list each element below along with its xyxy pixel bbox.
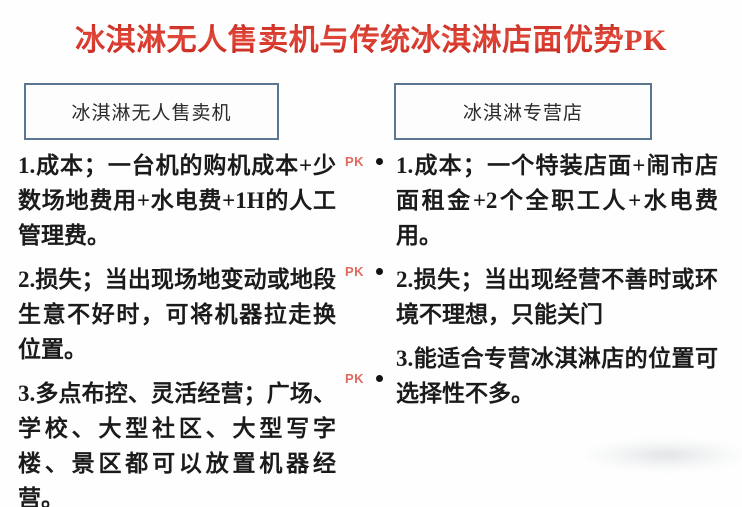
right-item-2: 2.损失；当出现经营不善时或环境不理想，只能关门	[396, 262, 718, 332]
left-column: 1.成本；一台机的购机成本+少数场地费用+水电费+1H的人工管理费。 2.损失；…	[18, 148, 336, 507]
pk-marker-3: PK	[345, 372, 364, 385]
left-item-2: 2.损失；当出现场地变动或地段生意不好时，可将机器拉走换位置。	[18, 262, 336, 367]
bullet-icon-3	[376, 375, 383, 382]
slide-canvas: 冰淇淋无人售卖机与传统冰淇淋店面优势PK 冰淇淋无人售卖机 冰淇淋专营店 1.成…	[0, 0, 742, 507]
right-column: 1.成本；一个特装店面+闹市店面租金+2个全职工人+水电费用。 2.损失；当出现…	[396, 148, 726, 420]
pk-marker-1: PK	[345, 155, 364, 168]
bullet-icon-2	[376, 268, 383, 275]
page-title: 冰淇淋无人售卖机与传统冰淇淋店面优势PK	[0, 22, 742, 60]
pk-marker-2: PK	[345, 265, 364, 278]
bullet-icon-1	[376, 158, 383, 165]
left-item-1: 1.成本；一台机的购机成本+少数场地费用+水电费+1H的人工管理费。	[18, 148, 336, 253]
background-smudge	[552, 425, 742, 485]
header-box-right: 冰淇淋专营店	[394, 83, 652, 140]
header-box-left-label: 冰淇淋无人售卖机	[71, 98, 231, 125]
right-item-3: 3.能适合专营冰淇淋店的位置可选择性不多。	[396, 341, 718, 411]
header-box-left: 冰淇淋无人售卖机	[24, 83, 279, 140]
right-item-1: 1.成本；一个特装店面+闹市店面租金+2个全职工人+水电费用。	[396, 148, 718, 253]
left-item-3: 3.多点布控、灵活经营；广场、学校、大型社区、大型写字楼、景区都可以放置机器经营…	[18, 376, 336, 507]
header-box-right-label: 冰淇淋专营店	[463, 98, 583, 125]
